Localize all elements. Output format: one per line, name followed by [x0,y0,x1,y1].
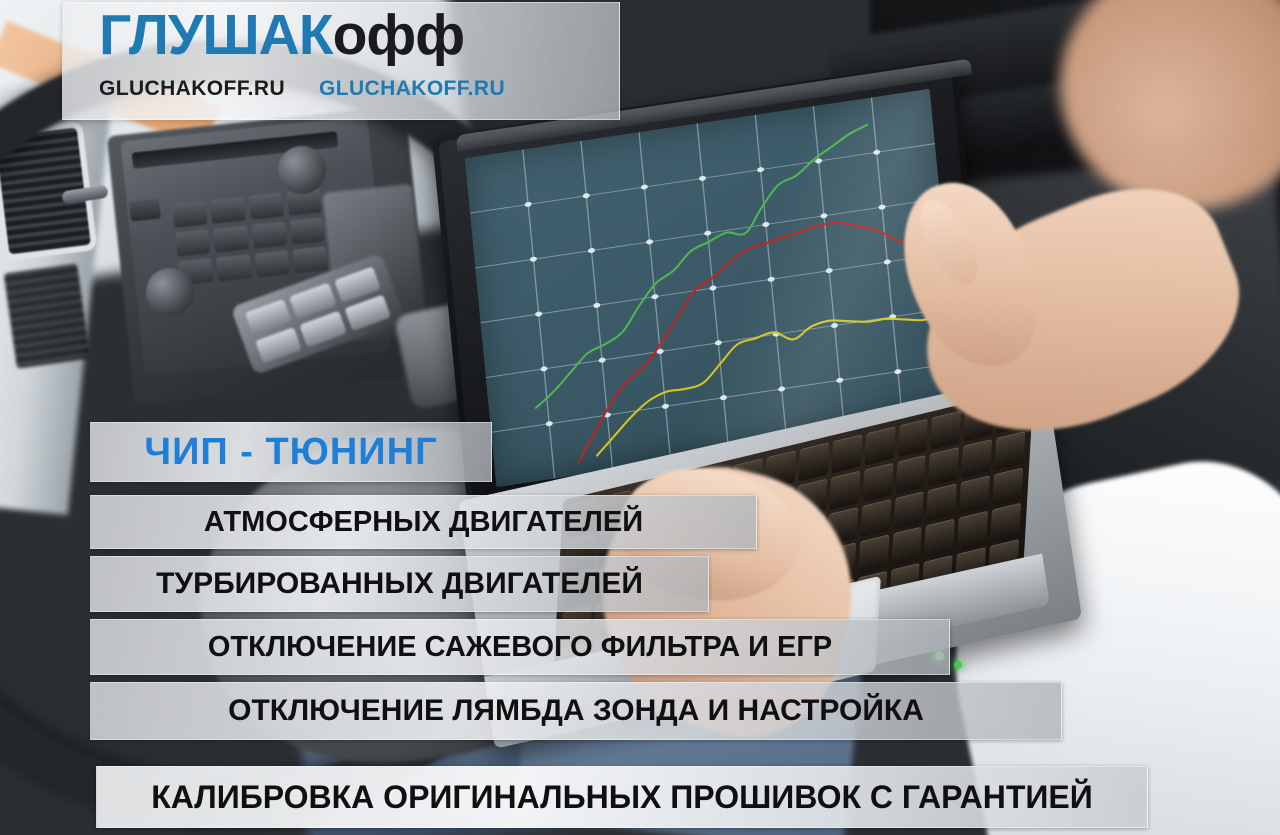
footer-label: КАЛИБРОВКА ОРИГИНАЛЬНЫХ ПРОШИВОК С ГАРАН… [97,779,1147,816]
brand-url-dark[interactable]: GLUCHAKOFF.RU [99,77,285,100]
headline-banner: ЧИП - ТЮНИНГ [90,422,492,482]
feature-banner-3: ОТКЛЮЧЕНИЕ САЖЕВОГО ФИЛЬТРА И ЕГР [90,619,950,675]
brand-name-blue: ГЛУШАК [99,3,333,67]
feature-label: ОТКЛЮЧЕНИЕ САЖЕВОГО ФИЛЬТРА И ЕГР [91,631,949,664]
feature-banner-1: АТМОСФЕРНЫХ ДВИГАТЕЛЕЙ [90,495,757,549]
brand-name-dark: офф [333,3,465,67]
advertisement-banner: 298 [0,0,1280,835]
brand-url-blue[interactable]: GLUCHAKOFF.RU [319,77,505,100]
feature-label: АТМОСФЕРНЫХ ДВИГАТЕЛЕЙ [91,506,756,539]
feature-banner-2: ТУРБИРОВАННЫХ ДВИГАТЕЛЕЙ [90,556,709,612]
footer-banner: КАЛИБРОВКА ОРИГИНАЛЬНЫХ ПРОШИВОК С ГАРАН… [96,766,1148,828]
brand-wordmark: ГЛУШАКофф [99,7,464,64]
feature-label: ТУРБИРОВАННЫХ ДВИГАТЕЛЕЙ [91,567,708,601]
chart-grid-dots [524,149,901,426]
headline-title: ЧИП - ТЮНИНГ [91,431,491,474]
brand-urls: GLUCHAKOFF.RUGLUCHAKOFF.RU [99,77,505,101]
feature-label: ОТКЛЮЧЕНИЕ ЛЯМБДА ЗОНДА И НАСТРОЙКА [91,694,1061,728]
feature-banner-4: ОТКЛЮЧЕНИЕ ЛЯМБДА ЗОНДА И НАСТРОЙКА [90,682,1062,740]
brand-logo-panel[interactable]: ГЛУШАКофф GLUCHAKOFF.RUGLUCHAKOFF.RU [62,2,620,120]
